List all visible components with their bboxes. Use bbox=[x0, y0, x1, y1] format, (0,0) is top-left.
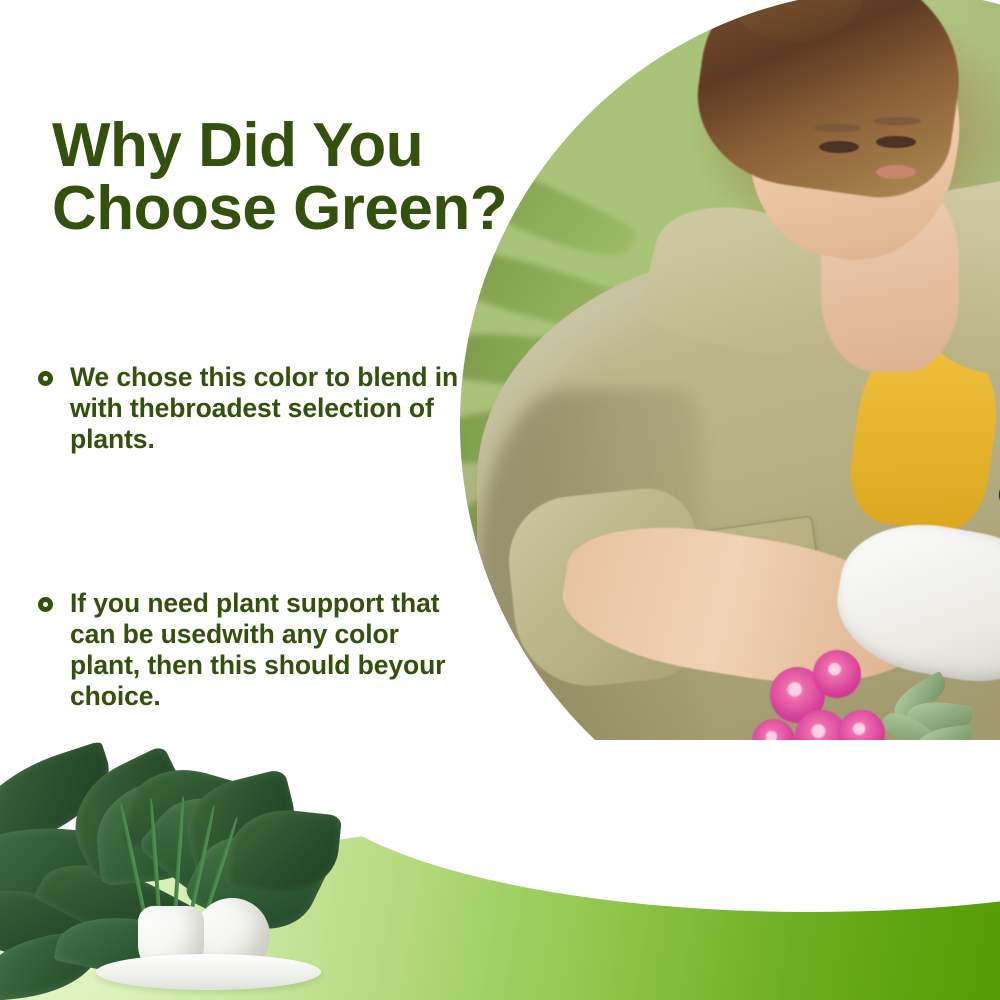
ring-bullet-icon bbox=[38, 371, 53, 386]
tropical-leaves-group bbox=[0, 740, 1000, 1000]
slide-canvas: Why Did You Choose Green? We chose this … bbox=[0, 0, 1000, 1000]
bullet-item-1-label: We chose this color to blend in with the… bbox=[70, 362, 468, 455]
bullet-item-1: We chose this color to blend in with the… bbox=[38, 362, 468, 455]
pink-flower bbox=[813, 650, 861, 699]
bench-and-pots bbox=[460, 0, 1000, 858]
ring-bullet-icon bbox=[38, 597, 53, 612]
bottom-decoration-band bbox=[0, 740, 1000, 1000]
page-title: Why Did You Choose Green? bbox=[52, 114, 522, 242]
bullet-item-2-label: If you need plant support that can be us… bbox=[70, 588, 468, 712]
white-oval-table bbox=[96, 954, 321, 990]
bullet-item-2: If you need plant support that can be us… bbox=[38, 588, 468, 712]
woman-pruning-potted-plant-photo bbox=[460, 0, 1000, 858]
